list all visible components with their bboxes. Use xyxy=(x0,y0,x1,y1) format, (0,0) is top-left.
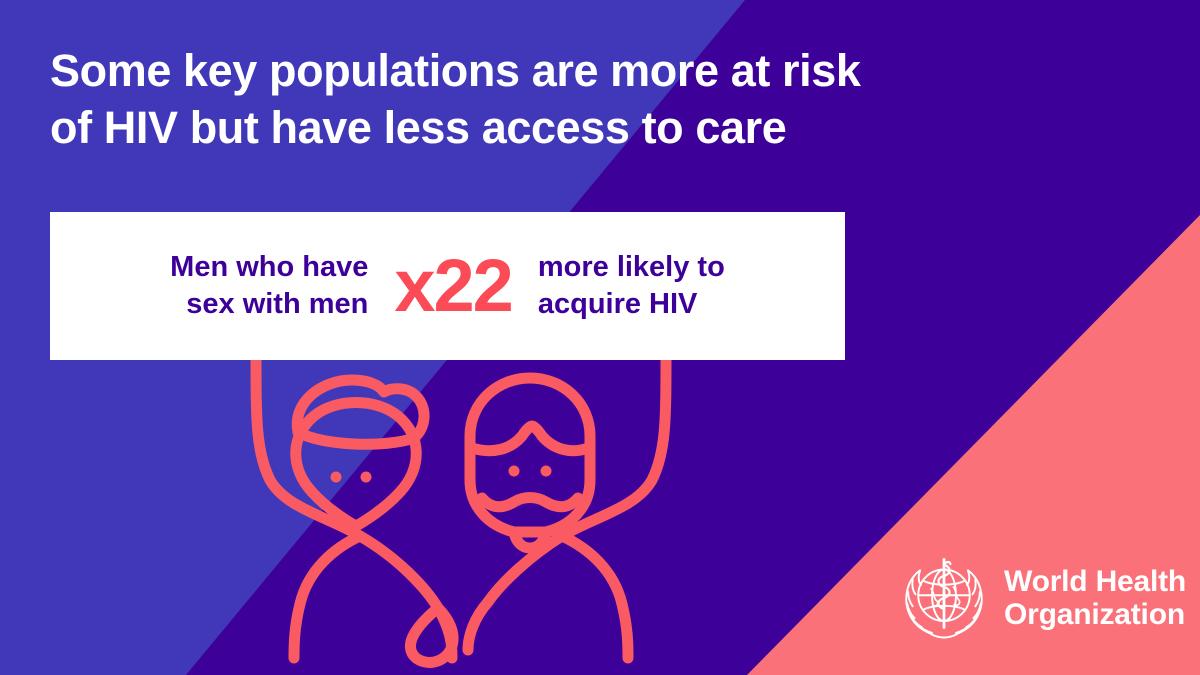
right-figure-beard-line xyxy=(482,498,578,507)
right-figure-right-side xyxy=(562,536,628,658)
left-figure-eye-right xyxy=(361,472,372,483)
right-figure xyxy=(468,352,666,658)
who-emblem-icon xyxy=(898,552,990,644)
right-figure-fringe xyxy=(472,426,588,451)
poster-canvas: Some key populations are more at risk of… xyxy=(0,0,1200,675)
stat-population-label: Men who have sex with men xyxy=(170,249,368,323)
illustration-two-men xyxy=(230,340,690,670)
left-figure xyxy=(256,352,452,658)
left-figure-left-side xyxy=(294,536,360,658)
right-figure-left-side xyxy=(468,602,488,650)
headline: Some key populations are more at risk of… xyxy=(50,42,1140,156)
right-figure-eye-right xyxy=(541,466,552,477)
left-figure-head xyxy=(296,403,417,527)
stat-card: Men who have sex with men x22 more likel… xyxy=(50,212,845,360)
stat-outcome-label: more likely to acquire HIV xyxy=(538,249,725,323)
who-wordmark: World Health Organization xyxy=(1004,565,1186,631)
stat-multiplier: x22 xyxy=(394,249,511,323)
who-logo: World Health Organization xyxy=(898,552,1186,644)
right-figure-eye-left xyxy=(509,466,520,477)
left-figure-eye-left xyxy=(331,472,342,483)
right-figure-arm-and-body xyxy=(488,352,666,602)
left-figure-hairline xyxy=(298,432,414,444)
